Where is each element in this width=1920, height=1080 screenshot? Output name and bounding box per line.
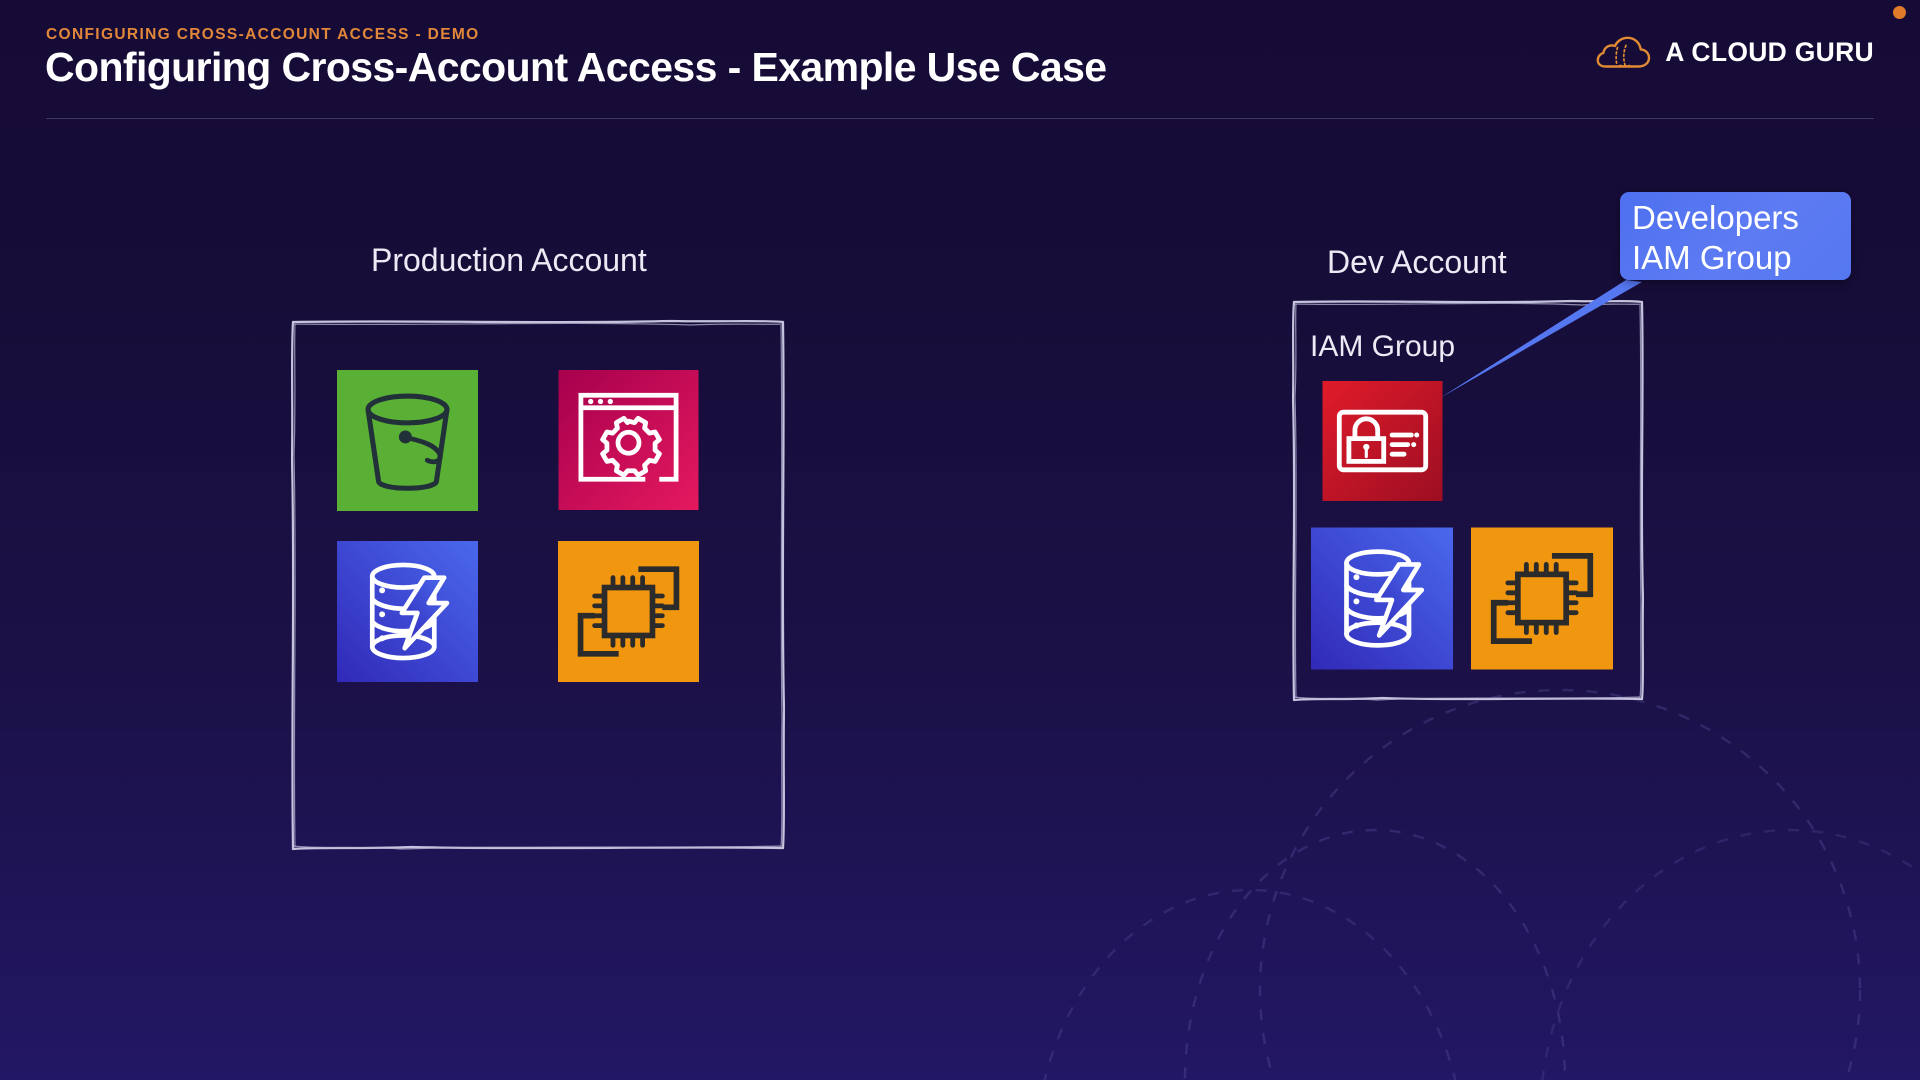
service-tile-ec2-dev[interactable]: [1471, 527, 1613, 670]
service-tile-dynamodb[interactable]: [337, 541, 478, 682]
management-console-icon: [557, 370, 700, 510]
ec2-icon: [557, 541, 700, 682]
service-tile-ec2[interactable]: [557, 541, 700, 682]
slide-header: CONFIGURING CROSS-ACCOUNT ACCESS - DEMO …: [0, 0, 1920, 122]
dynamodb-icon: [1311, 527, 1453, 670]
slide-canvas: CONFIGURING CROSS-ACCOUNT ACCESS - DEMO …: [0, 0, 1920, 1080]
iam-icon: [1322, 381, 1443, 501]
page-title: Configuring Cross-Account Access - Examp…: [45, 44, 1107, 91]
service-tile-management-console[interactable]: [557, 370, 700, 510]
dynamodb-icon: [337, 541, 478, 682]
callout-developers-iam-group[interactable]: Developers IAM Group: [1620, 192, 1851, 280]
brand-logo: A CLOUD GURU: [1596, 33, 1874, 72]
callout-line-1: Developers: [1632, 198, 1841, 238]
cloud-icon: [1596, 33, 1652, 72]
service-tile-s3[interactable]: [337, 370, 478, 511]
eyebrow-text: CONFIGURING CROSS-ACCOUNT ACCESS - DEMO: [46, 26, 480, 44]
iam-group-label: IAM Group: [1310, 330, 1455, 364]
ec2-icon: [1471, 527, 1613, 670]
service-tile-iam[interactable]: [1322, 381, 1443, 501]
service-tile-dynamodb-dev[interactable]: [1311, 527, 1453, 670]
brand-name: A CLOUD GURU: [1665, 37, 1874, 68]
production-account-title: Production Account: [371, 242, 647, 279]
header-divider: [46, 118, 1874, 119]
callout-line-2: IAM Group: [1632, 238, 1841, 278]
dev-account-title: Dev Account: [1327, 244, 1507, 281]
s3-bucket-icon: [337, 370, 478, 511]
